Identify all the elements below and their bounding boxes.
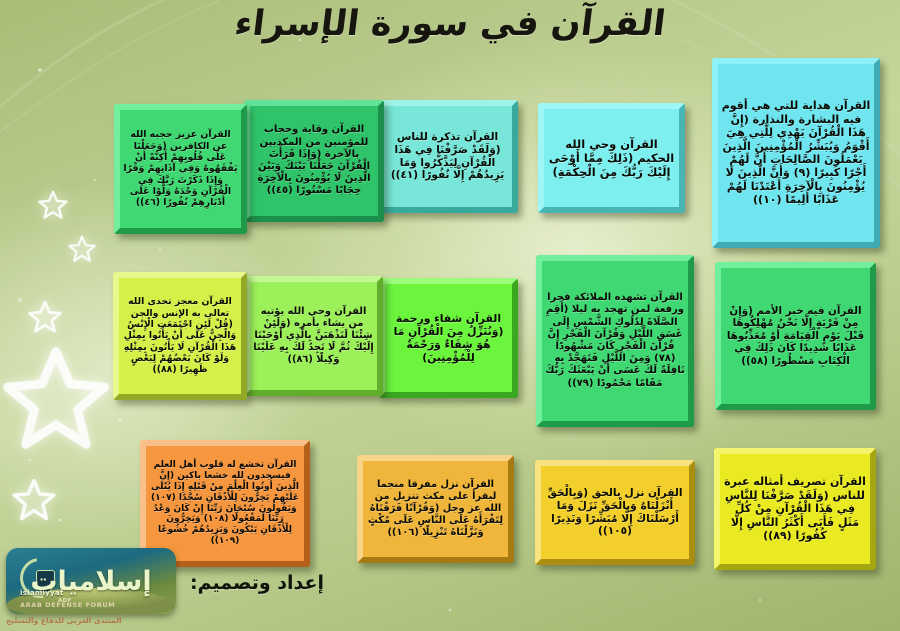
info-panel-7-text: القرآن تشهده الملائكة فجرا ورفعة لمن تهج… [542,290,688,392]
info-panel-9-text: القرآن وحي الله يؤتيه من يشاء بأمره (وَل… [250,304,377,368]
star-decoration-3 [28,300,62,334]
info-panel-3-text: القرآن تذكرة للناس (وَلَقَدْ صَرَّفْنَا … [383,129,512,184]
info-panel-10-text: القرآن معجز تحدى الله تعالى به الإنس وال… [119,294,241,377]
info-panel-1-text: القرآن هداية للتي هي أقوم فيه البشارة وا… [718,97,874,208]
info-panel-2-text: القرآن وحي الله الحكيم (ذَلِكَ مِمَّا أَ… [544,135,679,181]
star-decoration-4 [2,345,110,453]
info-panel-13[interactable]: القرآن نزل مفرقا منجما ليقرأ على مكث تنز… [357,455,514,563]
info-panel-12[interactable]: القرآن نزل بالحق (وَبِالْحَقِّ أَنْزَلْن… [535,460,695,565]
info-panel-3[interactable]: القرآن تذكرة للناس (وَلَقَدْ صَرَّفْنَا … [377,100,518,213]
info-panel-12-text: القرآن نزل بالحق (وَبِالْحَقِّ أَنْزَلْن… [541,485,689,541]
page-title: القرآن في سورة الإسراء [0,4,900,44]
info-panel-6-text: القرآن فيه خبر الأمم (وَإِنْ مِنْ قَرْيَ… [721,303,870,370]
info-panel-9[interactable]: القرآن وحي الله يؤتيه من يشاء بأمره (وَل… [244,276,383,396]
info-panel-2[interactable]: القرآن وحي الله الحكيم (ذَلِكَ مِمَّا أَ… [538,103,685,213]
info-panel-1[interactable]: القرآن هداية للتي هي أقوم فيه البشارة وا… [712,58,880,248]
info-panel-5[interactable]: القرآن عزيز حجبه الله عن الكافرين (وَجَع… [114,104,247,234]
info-panel-13-text: القرآن نزل مفرقا منجما ليقرأ على مكث تنز… [363,477,508,541]
credit-label: إعداد وتصميم: [190,572,324,594]
star-decoration-2 [68,235,96,263]
info-panel-5-text: القرآن عزيز حجبه الله عن الكافرين (وَجَع… [120,127,241,210]
info-panel-10[interactable]: القرآن معجز تحدى الله تعالى به الإنس وال… [113,272,247,400]
info-panel-4-text: القرآن وقاية وحجاب للمؤمنين من المكذبين … [250,122,378,199]
info-panel-6[interactable]: القرآن فيه خبر الأمم (وَإِنْ مِنْ قَرْيَ… [715,262,876,410]
info-panel-4[interactable]: القرآن وقاية وحجاب للمؤمنين من المكذبين … [244,100,384,222]
info-panel-11[interactable]: القرآن تصريف أمثاله عبرة للناس (وَلَقَدْ… [714,448,876,570]
info-panel-14-text: القرآن تخشع له قلوب أهل العلم فيسجدون لل… [146,458,304,550]
infographic-canvas: القرآن في سورة الإسراء القرآن هداية للتي… [0,0,900,631]
info-panel-8-text: القرآن شفاء ورحمة (وَنُنَزِّلُ مِنَ الْق… [385,310,512,367]
info-panel-8[interactable]: القرآن شفاء ورحمة (وَنُنَزِّلُ مِنَ الْق… [379,278,518,398]
info-panel-7[interactable]: القرآن تشهده الملائكة فجرا ورفعة لمن تهج… [536,255,694,427]
star-decoration-5 [12,478,56,522]
logo-subtitle-latin: islamiyyat [20,589,64,597]
star-decoration-1 [38,190,68,220]
info-panel-11-text: القرآن تصريف أمثاله عبرة للناس (وَلَقَدْ… [720,473,870,544]
logo-forum-name: ARAB DEFENSE FORUM [20,601,115,609]
site-logo[interactable]: إسلاميات islamiyyat ADF ARAB DEFENSE FOR… [6,548,176,614]
footer-link[interactable]: المنتدى العربي للدفاع والتسليح [6,616,122,625]
